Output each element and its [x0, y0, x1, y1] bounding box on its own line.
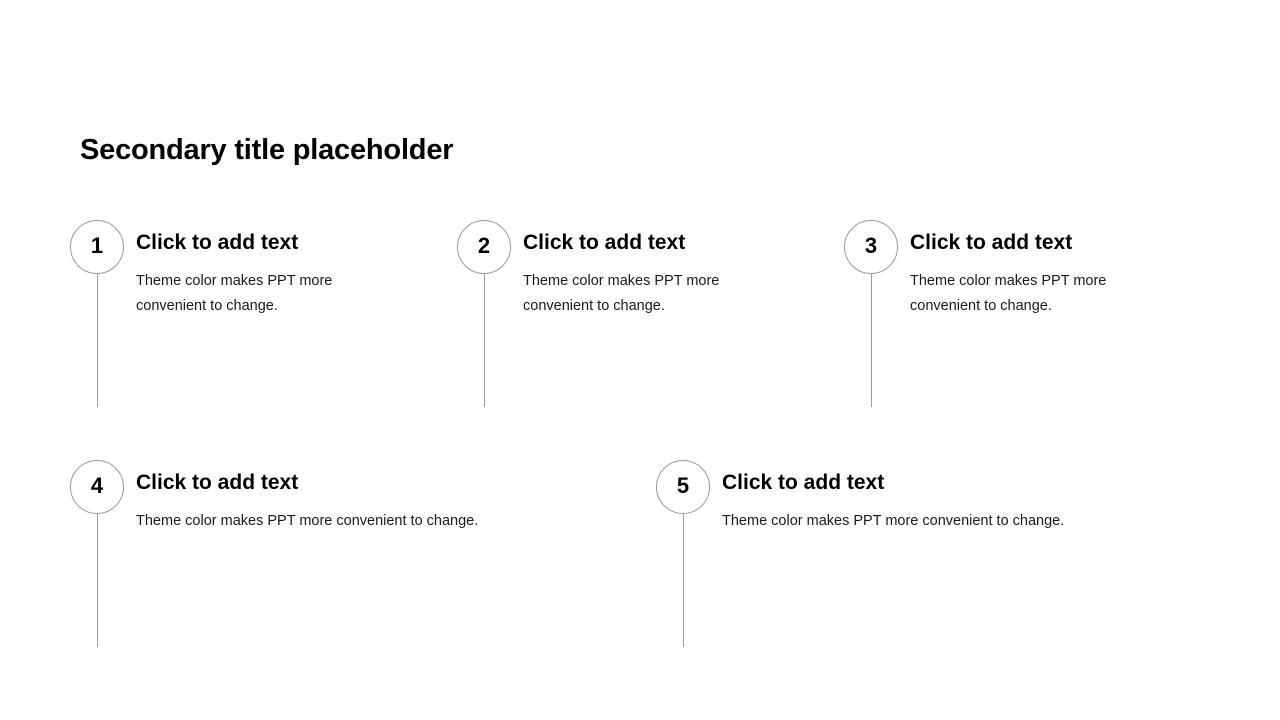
step-description[interactable]: Theme color makes PPT more convenient to… [136, 509, 566, 534]
step-number-label: 3 [865, 235, 877, 257]
step-description[interactable]: Theme color makes PPT more convenient to… [910, 269, 1135, 319]
step-body-2: Click to add text Theme color makes PPT … [523, 220, 748, 297]
step-heading[interactable]: Click to add text [136, 469, 566, 496]
step-description[interactable]: Theme color makes PPT more convenient to… [523, 269, 748, 319]
step-body-1: Click to add text Theme color makes PPT … [136, 220, 361, 297]
step-body-5: Click to add text Theme color makes PPT … [722, 460, 1152, 512]
step-heading[interactable]: Click to add text [722, 469, 1152, 496]
step-heading[interactable]: Click to add text [136, 229, 361, 256]
step-body-3: Click to add text Theme color makes PPT … [910, 220, 1135, 297]
step-circle-icon: 4 [70, 460, 124, 514]
step-circle-icon: 2 [457, 220, 511, 274]
step-marker-3: 3 [844, 220, 898, 274]
step-marker-5: 5 [656, 460, 710, 514]
step-number-label: 1 [91, 235, 103, 257]
step-marker-4: 4 [70, 460, 124, 514]
step-circle-icon: 5 [656, 460, 710, 514]
step-connector-line [683, 514, 684, 647]
step-number-label: 2 [478, 235, 490, 257]
slide-canvas: Secondary title placeholder 1 Click to a… [0, 0, 1280, 720]
step-connector-line [484, 274, 485, 407]
step-connector-line [871, 274, 872, 407]
step-circle-icon: 1 [70, 220, 124, 274]
step-marker-1: 1 [70, 220, 124, 274]
step-description[interactable]: Theme color makes PPT more convenient to… [722, 509, 1152, 534]
step-number-label: 4 [91, 475, 103, 497]
step-circle-icon: 3 [844, 220, 898, 274]
step-description[interactable]: Theme color makes PPT more convenient to… [136, 269, 361, 319]
step-marker-2: 2 [457, 220, 511, 274]
step-heading[interactable]: Click to add text [523, 229, 748, 256]
page-title: Secondary title placeholder [80, 131, 453, 169]
step-connector-line [97, 274, 98, 407]
step-connector-line [97, 514, 98, 647]
step-body-4: Click to add text Theme color makes PPT … [136, 460, 566, 512]
step-number-label: 5 [677, 475, 689, 497]
step-heading[interactable]: Click to add text [910, 229, 1135, 256]
